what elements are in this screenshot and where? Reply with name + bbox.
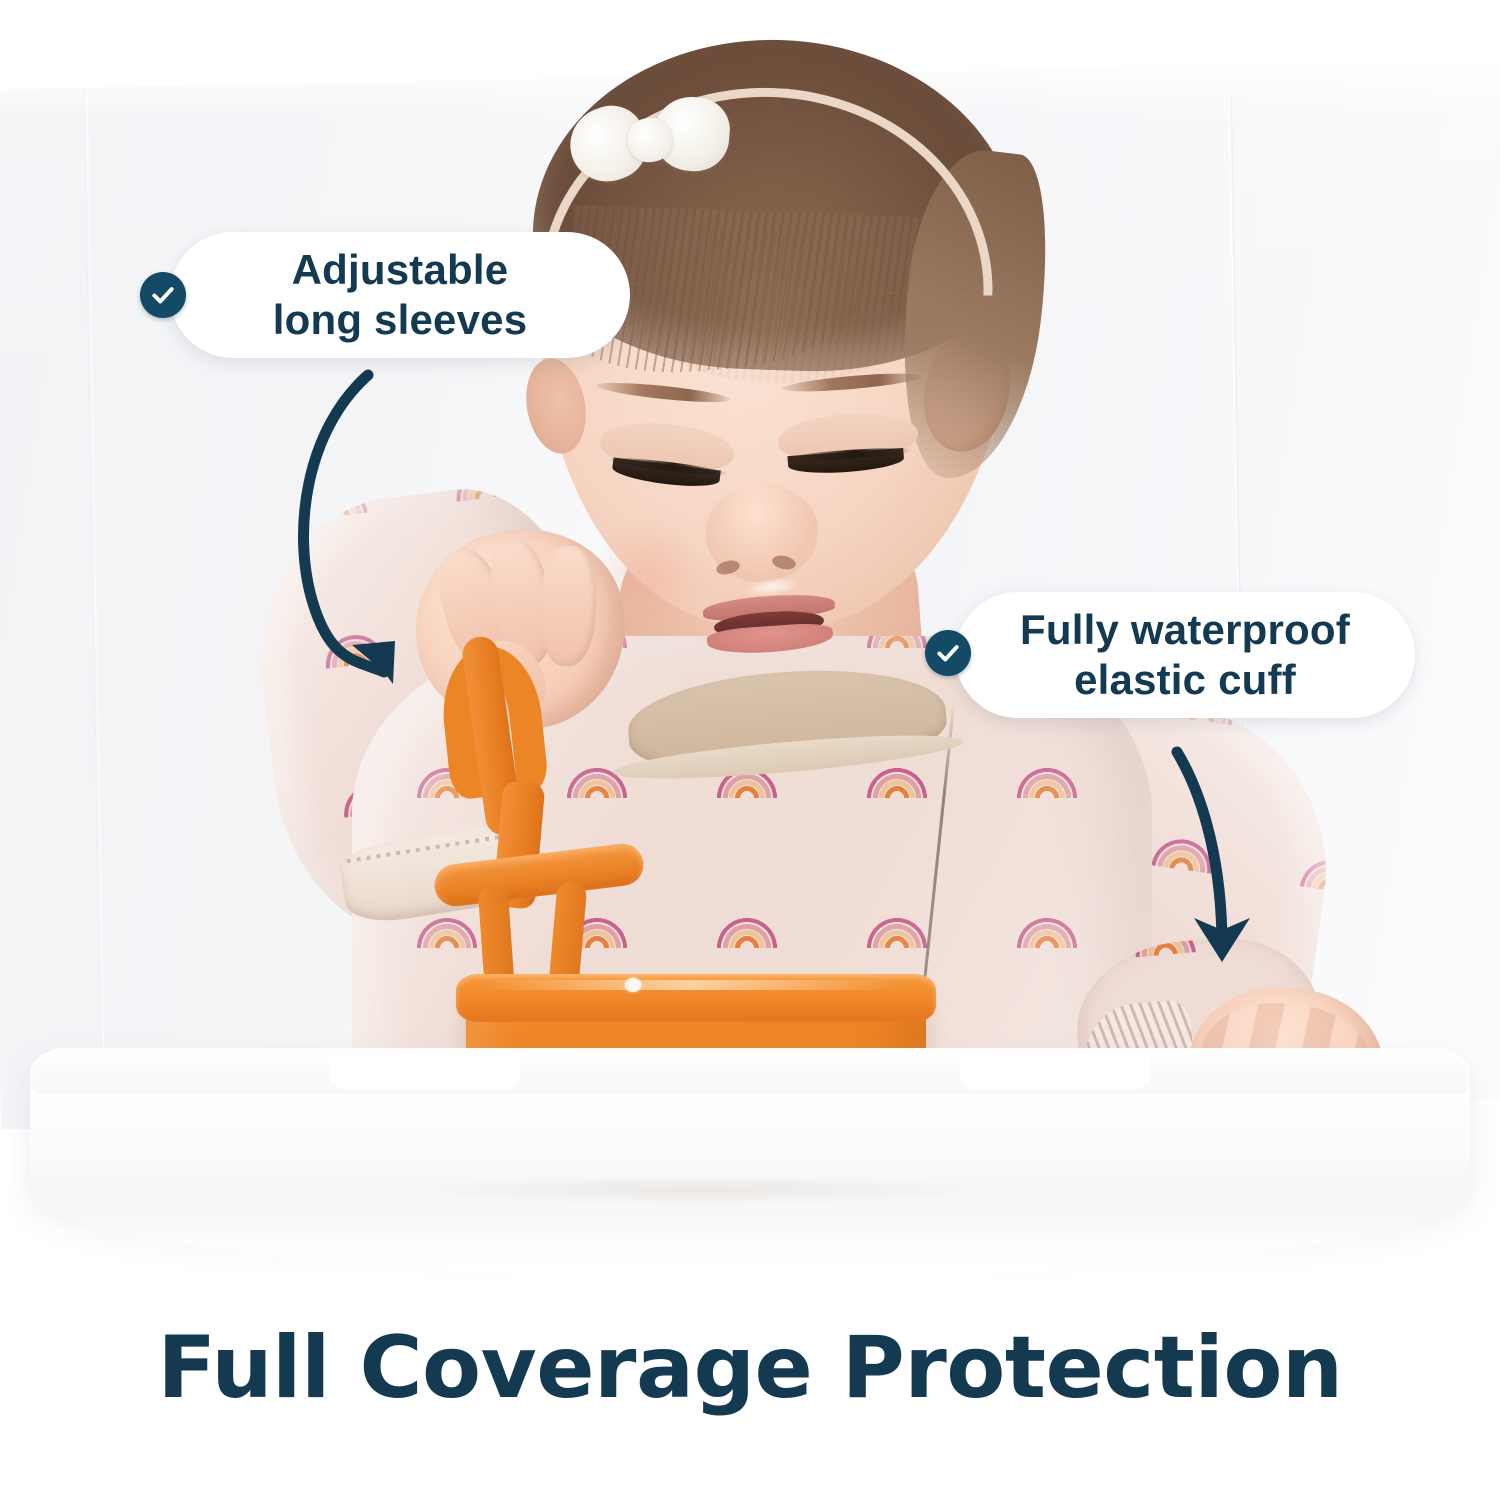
- check-circle-icon: [925, 630, 971, 676]
- check-circle-icon: [140, 272, 186, 318]
- arrow-path-sleeves: [304, 375, 384, 672]
- page-title: Full Coverage Protection: [0, 1318, 1500, 1418]
- callout-adjustable-long-sleeves[interactable]: Adjustable long sleeves: [170, 232, 630, 358]
- product-photo: Adjustable long sleeves Fully waterproof…: [0, 0, 1500, 1310]
- arrow-path-cuff: [1177, 752, 1222, 946]
- callout-fully-waterproof-elastic-cuff[interactable]: Fully waterproof elastic cuff: [955, 592, 1415, 718]
- callout-pill: Adjustable long sleeves: [170, 232, 630, 358]
- callout-label: Adjustable long sleeves: [263, 245, 538, 344]
- product-feature-image: Adjustable long sleeves Fully waterproof…: [0, 0, 1500, 1500]
- callout-label: Fully waterproof elastic cuff: [1010, 605, 1360, 704]
- callout-pill: Fully waterproof elastic cuff: [955, 592, 1415, 718]
